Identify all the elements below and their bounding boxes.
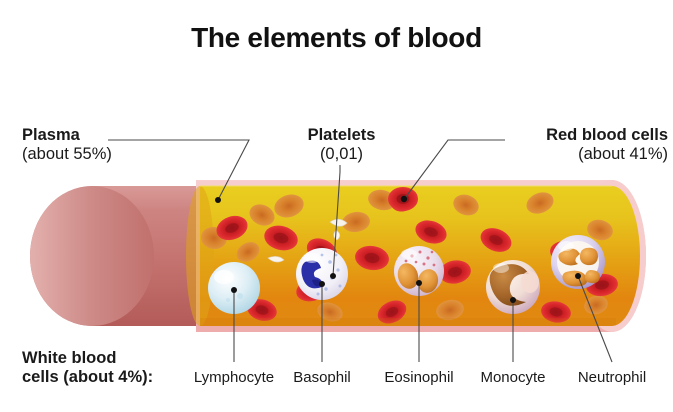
- label-red-blood-cells-name: Red blood cells: [430, 126, 668, 145]
- label-white-blood-cells: White blood cells (about 4%):: [22, 349, 153, 388]
- cell-label-basophil: Basophil: [272, 369, 372, 386]
- cell-label-monocyte: Monocyte: [463, 369, 563, 386]
- cell-label-neutrophil: Neutrophil: [558, 369, 666, 386]
- label-white-blood-cells-line1: White blood: [22, 349, 153, 368]
- blood-diagram: The elements of blood: [0, 0, 673, 412]
- label-red-blood-cells: Red blood cells (about 41%): [430, 126, 668, 165]
- label-red-blood-cells-value: (about 41%): [430, 145, 668, 164]
- label-platelets: Platelets (0,01): [284, 126, 399, 165]
- label-platelets-name: Platelets: [284, 126, 399, 145]
- label-white-blood-cells-line2: cells (about 4%):: [22, 368, 153, 387]
- label-plasma-value: (about 55%): [22, 145, 112, 164]
- label-platelets-value: (0,01): [284, 145, 399, 164]
- label-plasma: Plasma (about 55%): [22, 126, 112, 165]
- cell-label-eosinophil: Eosinophil: [365, 369, 473, 386]
- label-plasma-name: Plasma: [22, 126, 112, 145]
- neutrophil-cell: [551, 235, 605, 289]
